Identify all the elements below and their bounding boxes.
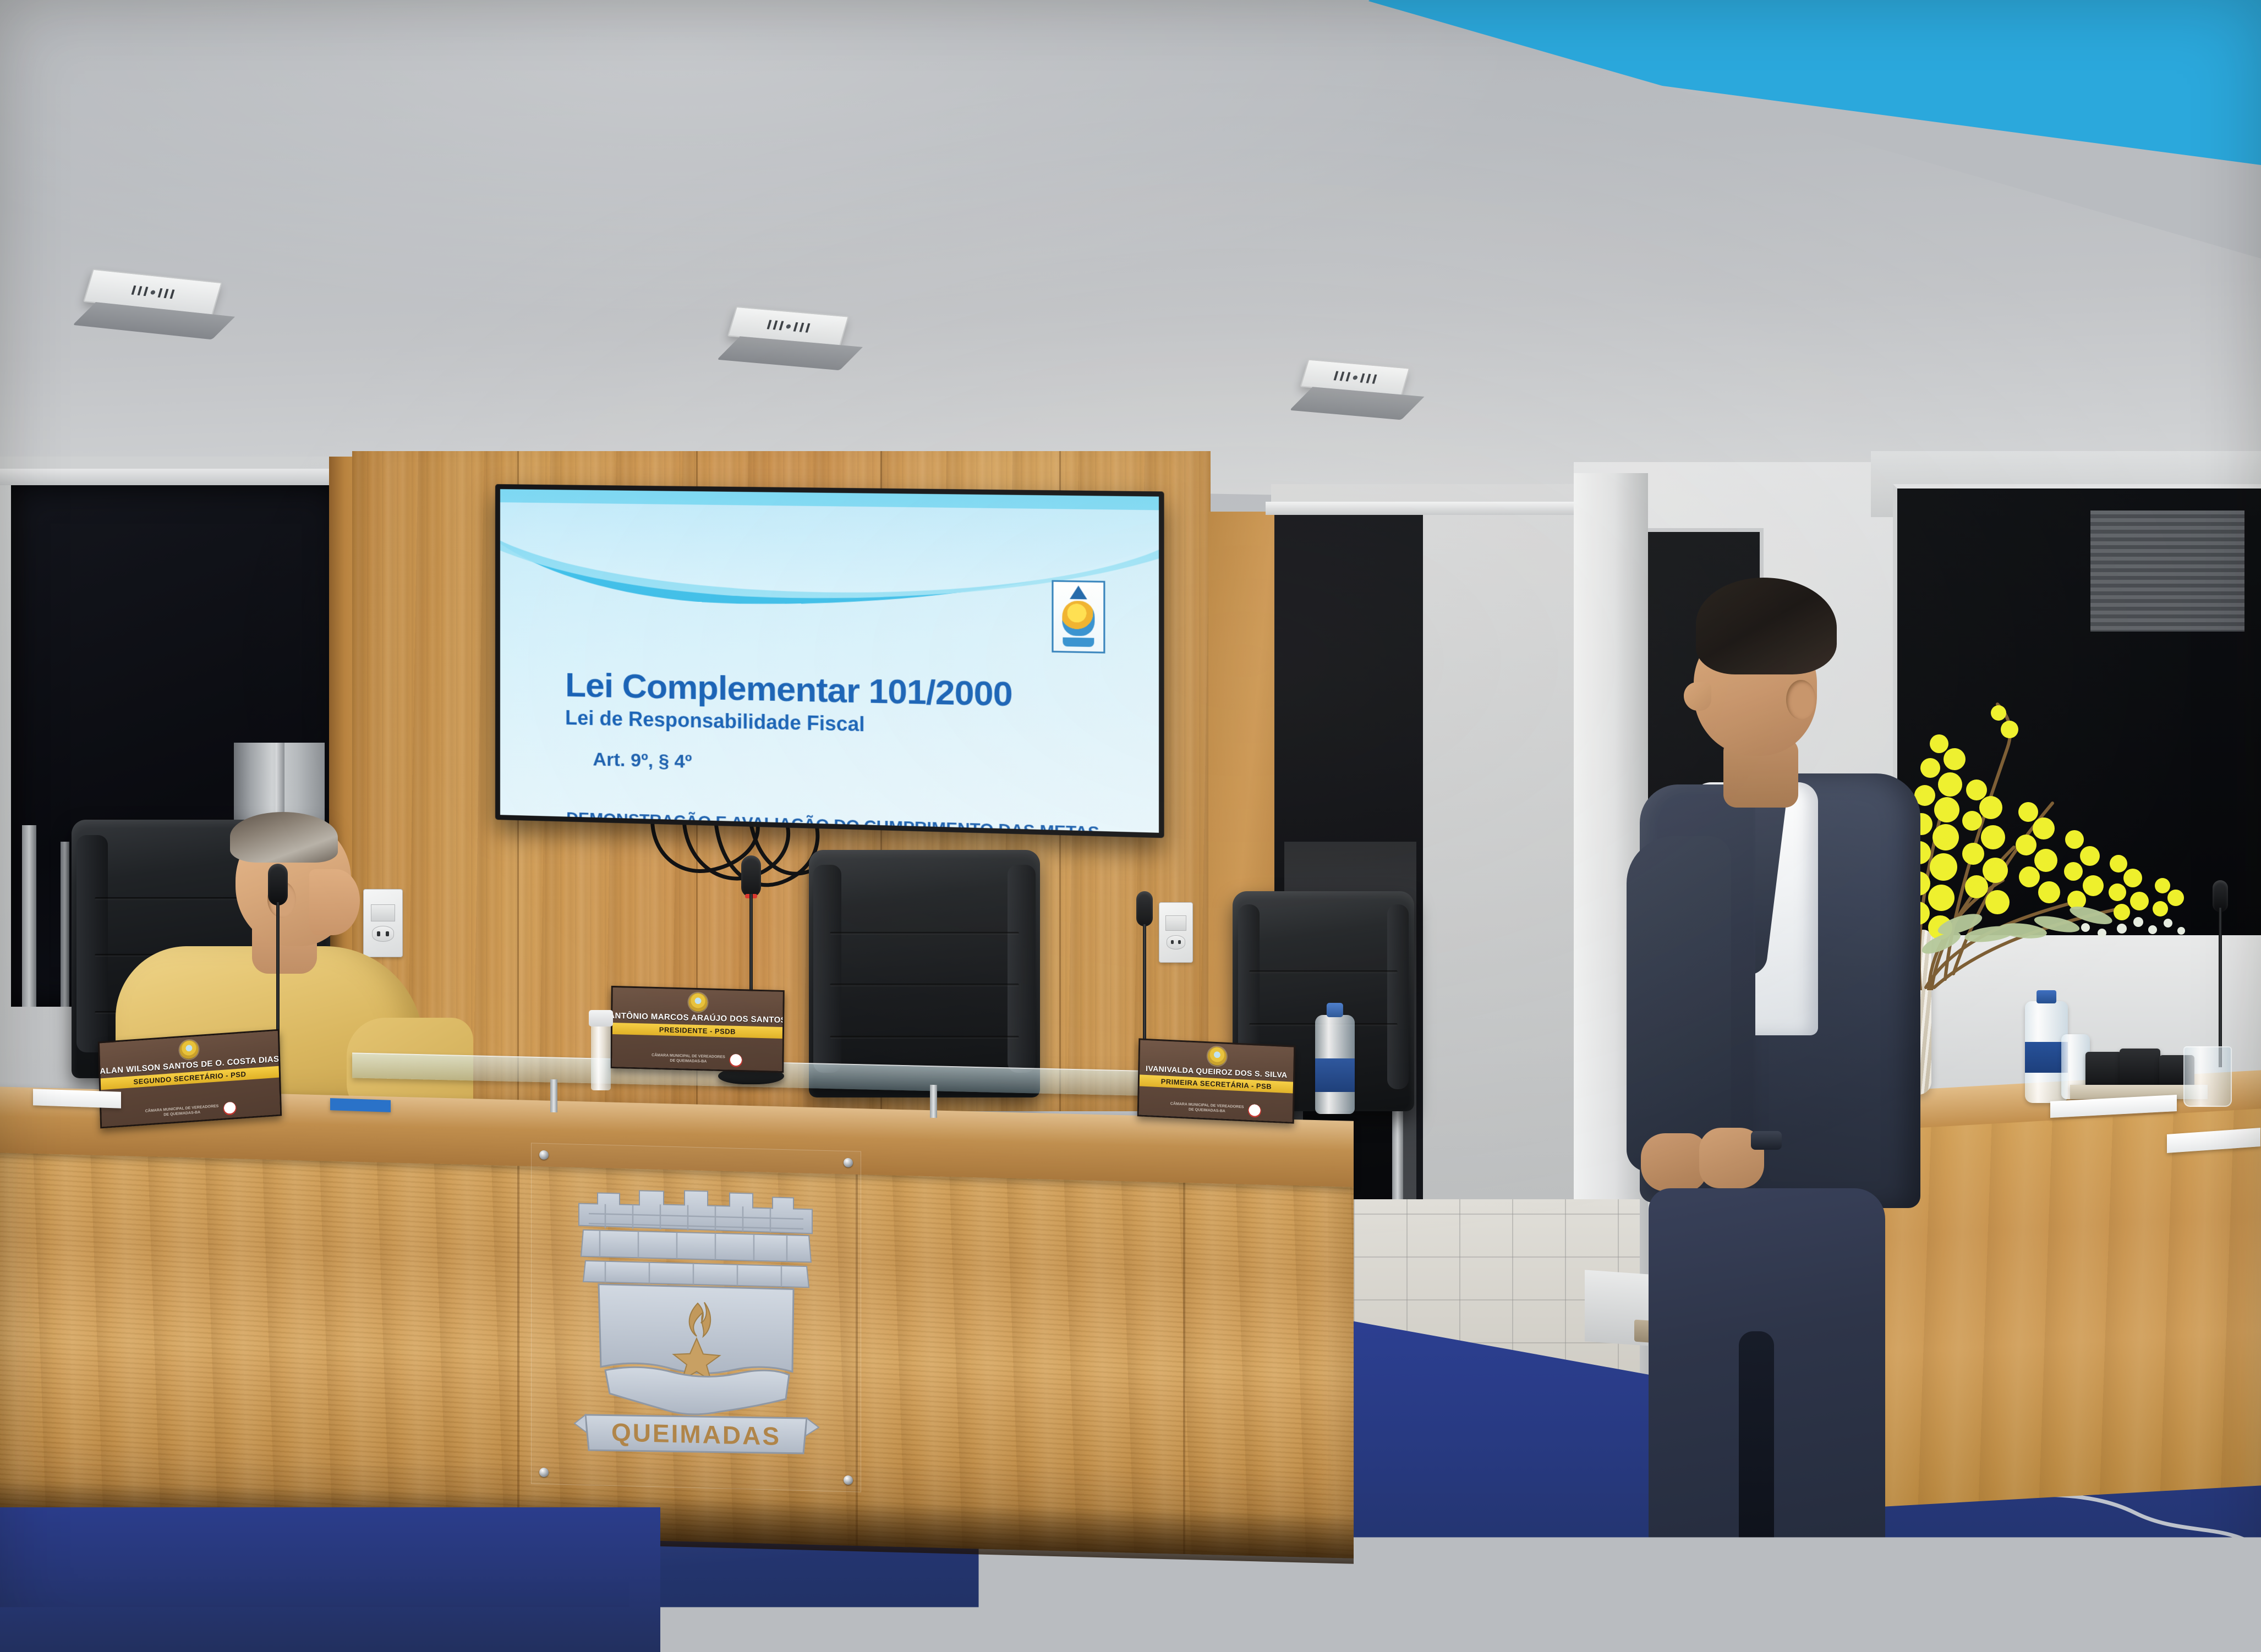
queimadas-coat-of-arms-icon: QUEIMADAS [567, 1172, 825, 1476]
presenter-left-hand [1641, 1133, 1707, 1192]
microphone-head-icon [268, 864, 288, 905]
nameplate-role: PRESIDENTE - PSDB [612, 1024, 782, 1037]
paper-sheet[interactable] [33, 1089, 121, 1108]
light-grill-icon [1333, 371, 1377, 383]
chamber-logo-icon [1248, 1104, 1261, 1118]
dress-shoe [1776, 1596, 1903, 1652]
nameplate-role-band: PRESIDENTE - PSDB [612, 1023, 782, 1039]
president-chair[interactable] [809, 850, 1040, 1097]
door-header-rail [1266, 502, 1623, 515]
brazil-coat-icon [688, 993, 707, 1012]
bottle-cap [2036, 990, 2056, 1003]
nameplate-second-secretary: ALAN WILSON SANTOS DE O. COSTA DIAS SEGU… [98, 1029, 282, 1129]
presenter-hair [1696, 578, 1837, 674]
rubber-stamp[interactable] [2085, 1052, 2122, 1089]
paper-sheet[interactable] [330, 1098, 391, 1112]
hand-sanitizer-bottle[interactable] [591, 1024, 611, 1090]
nameplate-first-secretary: IVANIVALDA QUEIROZ DOS S. SILVA PRIMEIRA… [1137, 1038, 1296, 1123]
slide-article: Art. 9º, § 4º [593, 749, 692, 773]
window-blinds [2090, 511, 2244, 632]
light-grill-icon [131, 286, 174, 299]
slide-content: Lei Complementar 101/2000 Lei de Respons… [500, 489, 1159, 833]
councilman-hair [230, 812, 338, 863]
carpet-foreground [0, 1507, 660, 1652]
chamber-logo-icon [730, 1054, 743, 1068]
drinking-glass[interactable] [2183, 1046, 2232, 1107]
light-grill-icon [767, 320, 810, 332]
rubber-stamp[interactable] [2120, 1049, 2160, 1086]
microphone-head-icon [1136, 891, 1153, 926]
dress-shoe [1627, 1565, 1753, 1618]
brazil-coat-icon [179, 1040, 199, 1060]
sanitizer-pump[interactable] [589, 1010, 613, 1027]
presentation-screen: Lei Complementar 101/2000 Lei de Respons… [495, 484, 1164, 838]
coat-of-arms-plaque: QUEIMADAS [531, 1143, 861, 1492]
wristwatch [1751, 1131, 1782, 1150]
chamber-logo-icon [223, 1101, 237, 1116]
council-chamber-photo: Lei Complementar 101/2000 Lei de Respons… [0, 0, 2261, 1652]
brazil-coat-icon [1207, 1046, 1227, 1066]
nameplate-president: ANTÔNIO MARCOS ARAÚJO DOS SANTOS PRESIDE… [610, 986, 785, 1073]
presenter-person [1574, 578, 1948, 1650]
presenter-left-arm [1627, 836, 1731, 1172]
slide-subtitle: Lei de Responsabilidade Fiscal [565, 706, 864, 737]
coat-of-arms-motto: QUEIMADAS [611, 1418, 781, 1451]
microphone-head-icon [741, 855, 761, 897]
water-bottle[interactable] [1315, 1015, 1355, 1114]
bottle-cap [1327, 1003, 1343, 1017]
brasao-municipal-icon [1052, 580, 1105, 653]
slide-title: Lei Complementar 101/2000 [565, 666, 1012, 715]
bottle-label [1315, 1058, 1355, 1092]
